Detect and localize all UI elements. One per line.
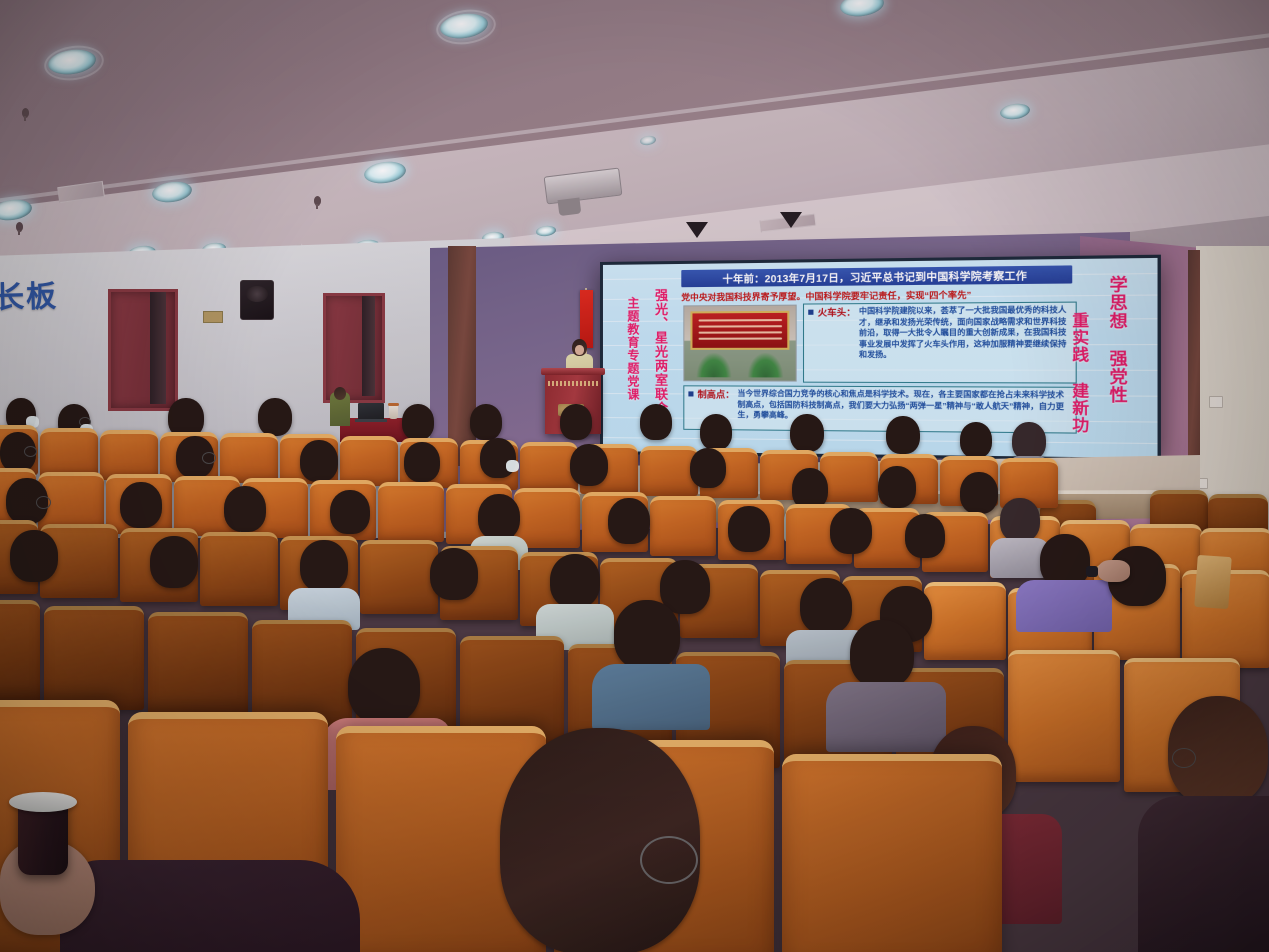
person-head bbox=[348, 648, 420, 724]
operator-coffee-cup bbox=[389, 405, 398, 419]
presenter-face bbox=[575, 345, 584, 355]
person-head bbox=[1000, 498, 1040, 542]
seat bbox=[650, 496, 716, 556]
plant-right bbox=[748, 353, 783, 378]
seat bbox=[40, 428, 98, 478]
person-head bbox=[330, 490, 370, 534]
seat bbox=[100, 430, 158, 480]
fire-sprinkler bbox=[314, 196, 321, 205]
bullet-one-heading: 火车头： bbox=[818, 305, 856, 319]
person-head bbox=[886, 416, 920, 454]
side-door[interactable] bbox=[323, 293, 385, 403]
person-head bbox=[258, 398, 292, 436]
person-head bbox=[830, 508, 872, 554]
seat bbox=[360, 540, 438, 614]
projection-screen: 十年前：2013年7月17日，习近平总书记到中国科学院考察工作 党中央对我国科技… bbox=[600, 255, 1161, 462]
person-head bbox=[404, 442, 440, 482]
face-mask bbox=[506, 460, 519, 472]
person-head bbox=[960, 422, 992, 458]
person-head bbox=[790, 414, 824, 452]
person-head bbox=[960, 472, 998, 514]
projected-slide: 十年前：2013年7月17日，习近平总书记到中国科学院考察工作 党中央对我国科技… bbox=[603, 258, 1158, 458]
seat bbox=[820, 452, 878, 502]
person-head bbox=[402, 404, 434, 440]
person-head bbox=[480, 438, 516, 478]
seat bbox=[782, 754, 1002, 952]
person-head bbox=[120, 482, 162, 528]
seat bbox=[514, 488, 580, 548]
person-head bbox=[224, 486, 266, 532]
bullet-marker bbox=[688, 391, 693, 396]
lectern-top-surface bbox=[541, 368, 605, 375]
auditorium-scene: 长板 十年前：2013年7月17日，习近平总书记到中国科学院考察工作 党中央对我… bbox=[0, 0, 1269, 952]
person-torso bbox=[1138, 796, 1269, 952]
person-head bbox=[905, 514, 945, 558]
wall-text-label: 长板 bbox=[0, 271, 59, 317]
person-head bbox=[640, 404, 672, 440]
person-head bbox=[560, 404, 592, 440]
person-head bbox=[690, 448, 726, 488]
bullet-two-heading: 制高点： bbox=[698, 387, 735, 400]
eyeglasses bbox=[640, 836, 698, 884]
person-head bbox=[850, 620, 914, 688]
side-door[interactable] bbox=[108, 289, 178, 411]
seat bbox=[200, 532, 278, 606]
eyeglasses bbox=[24, 446, 37, 457]
photo-red-banner bbox=[690, 311, 789, 350]
wall-outlet bbox=[1209, 396, 1223, 408]
slide-right-vertical-text-secondary: 重实践 建新功 bbox=[1068, 312, 1092, 434]
foreground-person-lap bbox=[60, 860, 360, 952]
resting-hand bbox=[1098, 560, 1130, 582]
seat bbox=[378, 482, 444, 542]
person-head bbox=[728, 506, 770, 552]
eyeglasses bbox=[1172, 748, 1196, 768]
seat bbox=[44, 606, 144, 710]
person-torso bbox=[826, 682, 946, 752]
laptop-computer[interactable] bbox=[358, 403, 384, 420]
person-head bbox=[10, 530, 58, 582]
ceiling-speaker bbox=[780, 212, 802, 228]
door-opening-gap bbox=[150, 292, 166, 404]
slide-left-vertical-text-primary: 强光、星光两室联合 bbox=[651, 288, 670, 415]
person-head bbox=[300, 440, 338, 482]
operator-person-head bbox=[334, 387, 346, 400]
fire-sprinkler bbox=[16, 222, 23, 231]
seat bbox=[924, 582, 1006, 660]
slide-title-text: 十年前：2013年7月17日，习近平总书记到中国科学院考察工作 bbox=[723, 267, 1028, 286]
slide-right-vertical-text-primary: 学思想 强党性 bbox=[1102, 275, 1129, 404]
eyeglasses bbox=[36, 496, 51, 509]
person-torso bbox=[1016, 580, 1112, 632]
eyeglasses bbox=[202, 452, 216, 464]
wristwatch bbox=[1086, 566, 1098, 577]
person-head bbox=[700, 414, 732, 450]
coffee-cup-lid bbox=[9, 792, 77, 812]
person-head bbox=[800, 578, 852, 634]
person-head bbox=[150, 536, 198, 588]
bullet-marker bbox=[808, 310, 813, 315]
person-head bbox=[430, 548, 478, 600]
bullet-one-body: 中国科学院建院以来，荟萃了一大批我国最优秀的科技人才，继承和发扬光荣传统，面向国… bbox=[859, 305, 1069, 361]
seat bbox=[0, 600, 40, 704]
seat bbox=[340, 436, 398, 486]
person-head bbox=[608, 498, 650, 544]
slide-left-vertical-text-secondary: 主题教育专题党课 bbox=[625, 297, 642, 402]
seat bbox=[148, 612, 248, 716]
fire-sprinkler bbox=[22, 108, 29, 117]
ceiling-speaker bbox=[686, 222, 708, 238]
person-torso bbox=[592, 664, 710, 730]
wall-mounted-speaker bbox=[240, 280, 274, 320]
lectern-inscription bbox=[548, 381, 598, 386]
person-head bbox=[478, 494, 520, 540]
seat-armrest bbox=[1194, 555, 1232, 609]
plant-left bbox=[697, 353, 732, 377]
door-opening-gap bbox=[362, 296, 375, 396]
person-head bbox=[614, 600, 680, 670]
person-head bbox=[470, 404, 502, 440]
slide-photograph bbox=[683, 305, 796, 382]
person-head bbox=[570, 444, 608, 486]
slide-title-bar: 十年前：2013年7月17日，习近平总书记到中国科学院考察工作 bbox=[681, 265, 1072, 287]
person-head bbox=[878, 466, 916, 508]
person-head bbox=[1012, 422, 1046, 460]
door-sign-plate bbox=[203, 311, 223, 323]
seat bbox=[1008, 650, 1120, 782]
person-head bbox=[550, 554, 600, 608]
person-head bbox=[300, 540, 348, 592]
